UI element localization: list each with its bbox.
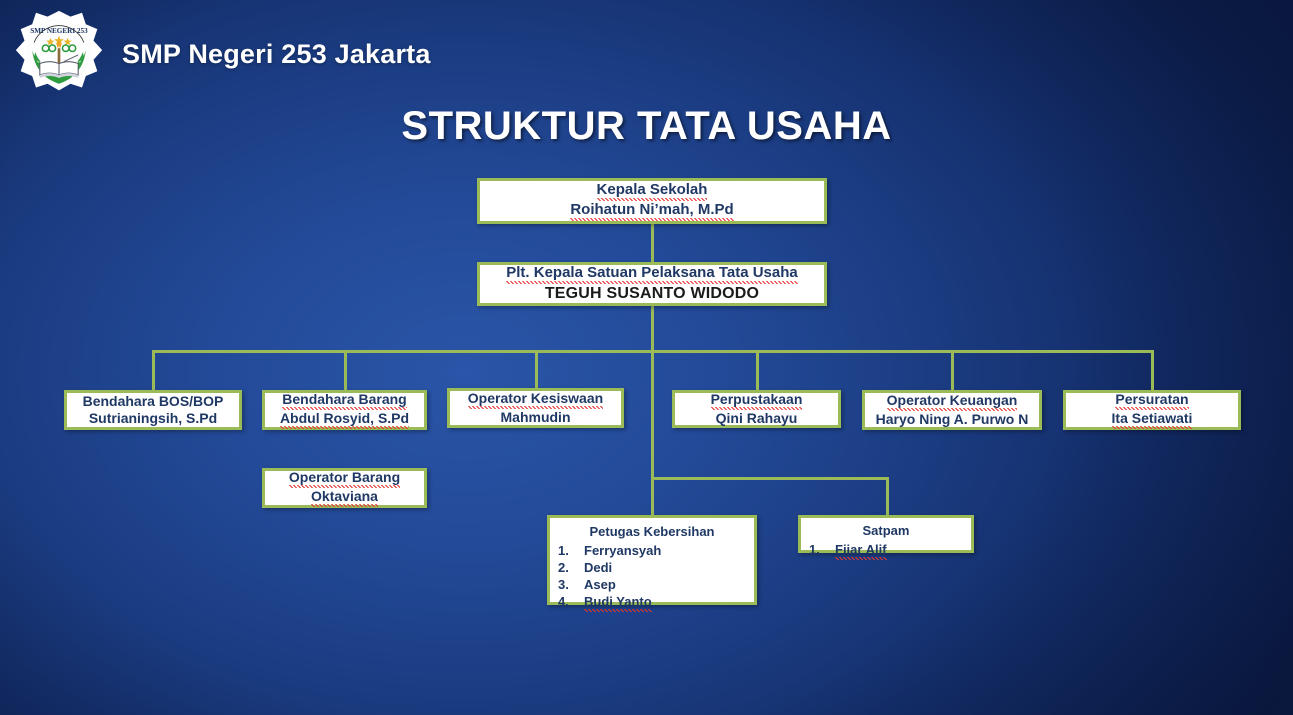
list-item-number: 3. [558,576,584,593]
list-item-number: 1. [558,542,584,559]
list-item-name: Ferryansyah [584,542,661,559]
petugas-kebersihan-list: 1. Ferryansyah 2. Dedi 3. Asep 4. Budi Y… [550,542,754,613]
node-petugas-kebersihan[interactable]: Petugas Kebersihan 1. Ferryansyah 2. Ded… [547,515,757,605]
node-name: Ita Setiawati [1112,410,1193,429]
node-role: Petugas Kebersihan [590,524,715,540]
list-item: 2. Dedi [550,559,754,576]
node-role: Perpustakaan [711,391,803,410]
list-item-name: Dedi [584,559,612,576]
node-name: Abdul Rosyid, S.Pd [280,410,409,429]
node-role: Operator Kesiswaan [468,390,603,409]
page-title: STRUKTUR TATA USAHA [0,104,1293,149]
connector-plt-trunk [651,306,654,352]
list-item: 1. Ferryansyah [550,542,754,559]
node-role: Persuratan [1115,391,1188,410]
slide-header: SMP NEGERI 253 SMP Negeri 253 Jakarta [0,0,431,108]
node-persuratan[interactable]: Persuratan Ita Setiawati [1063,390,1241,430]
node-operator-kesiswaan[interactable]: Operator Kesiswaan Mahmudin [447,388,624,428]
node-name: Qini Rahayu [716,410,798,427]
list-item-number: 4. [558,593,584,612]
node-kepala-sekolah[interactable]: Kepala Sekolah Roihatun Ni’mah, M.Pd [477,178,827,224]
node-role: Plt. Kepala Satuan Pelaksana Tata Usaha [506,264,798,284]
node-role: Bendahara Barang [282,391,406,410]
node-role: Operator Keuangan [887,392,1018,411]
connector-drop-satpam [886,477,889,515]
node-name: Haryo Ning A. Purwo N [876,411,1029,428]
connector-kepsek-to-plt [651,224,654,262]
node-name: Mahmudin [501,409,571,426]
svg-text:SMP NEGERI 253: SMP NEGERI 253 [30,27,88,35]
node-role: Operator Barang [289,469,400,488]
node-role: Kepala Sekolah [597,181,708,201]
connector-drop-perpustakaan [756,350,759,390]
node-perpustakaan[interactable]: Perpustakaan Qini Rahayu [672,390,841,428]
connector-drop-bendahara-barang [344,350,347,390]
connector-drop-bendahara-bos [152,350,155,390]
list-item: 4. Budi Yanto [550,593,754,612]
connector-branch-to-satpam [651,477,889,480]
slide-canvas: SMP NEGERI 253 SMP Negeri 253 Jakarta ST… [0,0,1293,715]
list-item: 1. Fijar Alif [801,541,971,560]
node-bendahara-barang[interactable]: Bendahara Barang Abdul Rosyid, S.Pd [262,390,427,430]
node-name: TEGUH SUSANTO WIDODO [545,284,759,304]
list-item-name: Fijar Alif [835,541,887,560]
node-name: Roihatun Ni’mah, M.Pd [570,201,733,221]
list-item-number: 1. [809,541,835,560]
connector-drop-operator-keuangan [951,350,954,390]
connector-drop-operator-kesiswaan [535,350,538,388]
connector-center-trunk-lower [651,350,654,515]
school-name: SMP Negeri 253 Jakarta [122,39,431,70]
school-logo-icon: SMP NEGERI 253 [10,8,108,100]
node-name: Sutrianingsih, S.Pd [89,410,217,427]
connector-drop-persuratan [1151,350,1154,390]
node-name: Oktaviana [311,488,378,507]
list-item-name: Asep [584,576,616,593]
list-item-name: Budi Yanto [584,593,652,612]
node-operator-barang[interactable]: Operator Barang Oktaviana [262,468,427,508]
list-item-number: 2. [558,559,584,576]
node-plt-kasatpel-tata-usaha[interactable]: Plt. Kepala Satuan Pelaksana Tata Usaha … [477,262,827,306]
satpam-list: 1. Fijar Alif [801,541,971,560]
node-operator-keuangan[interactable]: Operator Keuangan Haryo Ning A. Purwo N [862,390,1042,430]
list-item: 3. Asep [550,576,754,593]
node-role: Bendahara BOS/BOP [83,393,224,410]
node-bendahara-bos-bop[interactable]: Bendahara BOS/BOP Sutrianingsih, S.Pd [64,390,242,430]
node-role: Satpam [863,523,910,539]
node-satpam[interactable]: Satpam 1. Fijar Alif [798,515,974,553]
